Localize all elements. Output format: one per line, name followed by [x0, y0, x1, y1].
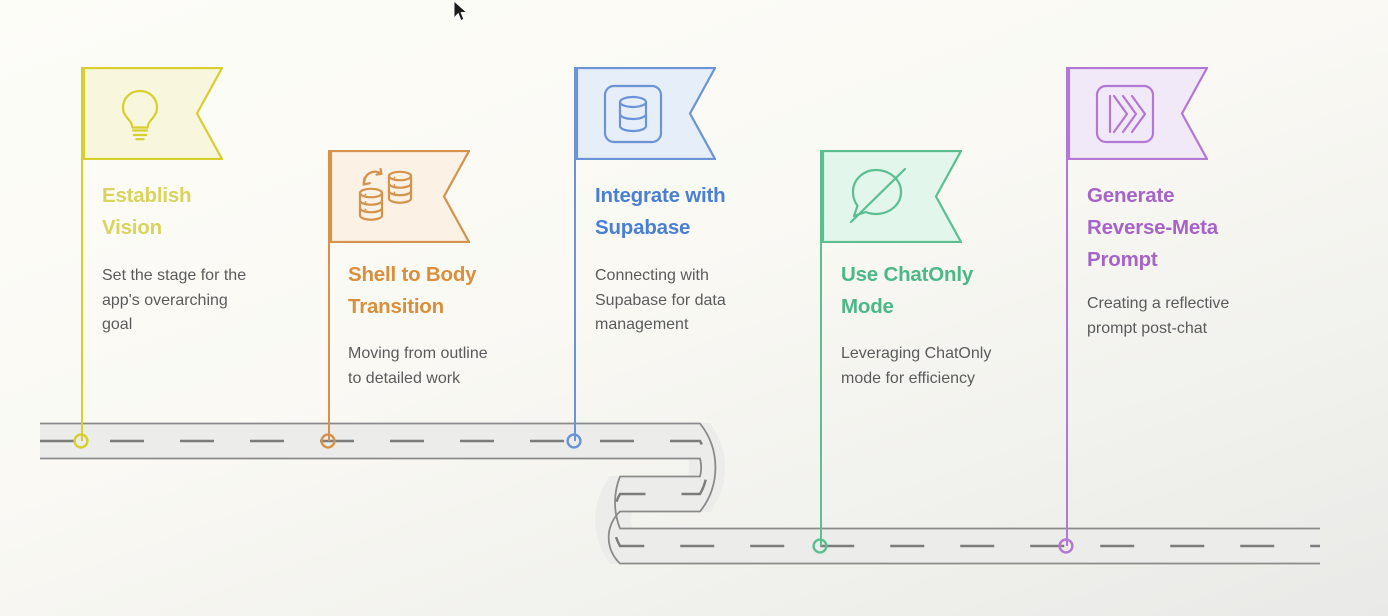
database-icon — [600, 81, 666, 147]
milestone-flag-wrap[interactable] — [822, 150, 962, 243]
chat-disabled-icon — [822, 150, 936, 243]
roadmap-infographic: Establish VisionSet the stage for the ap… — [0, 0, 1388, 616]
milestone-title: Shell to Body Transition — [348, 259, 548, 323]
milestone-flag-wrap[interactable] — [83, 67, 223, 160]
milestone-layer: Establish VisionSet the stage for the ap… — [0, 0, 1388, 616]
milestone-description: Connecting with Supabase for data manage… — [595, 264, 795, 338]
lightbulb-icon — [109, 83, 171, 145]
milestone-title: Integrate with Supabase — [595, 180, 795, 244]
chat-disabled-icon — [845, 166, 913, 228]
milestone-title: Use ChatOnly Mode — [841, 259, 1046, 323]
milestone-flag-wrap[interactable] — [1068, 67, 1208, 160]
lightbulb-icon — [83, 67, 197, 160]
milestone-description: Creating a reflective prompt post-chat — [1087, 292, 1302, 341]
database-icon — [576, 67, 690, 160]
milestone-description: Moving from outline to detailed work — [348, 342, 548, 391]
database-transfer-icon — [330, 150, 444, 243]
triple-chevron-icon — [1092, 81, 1158, 147]
milestone-description: Set the stage for the app's overarching … — [102, 264, 302, 338]
triple-chevron-icon — [1068, 67, 1182, 160]
milestone-flag-wrap[interactable] — [330, 150, 470, 243]
milestone-title: Establish Vision — [102, 180, 302, 244]
milestone-title: Generate Reverse-Meta Prompt — [1087, 180, 1302, 276]
milestone-description: Leveraging ChatOnly mode for efficiency — [841, 342, 1046, 391]
database-transfer-icon — [354, 167, 420, 227]
milestone-flag-wrap[interactable] — [576, 67, 716, 160]
